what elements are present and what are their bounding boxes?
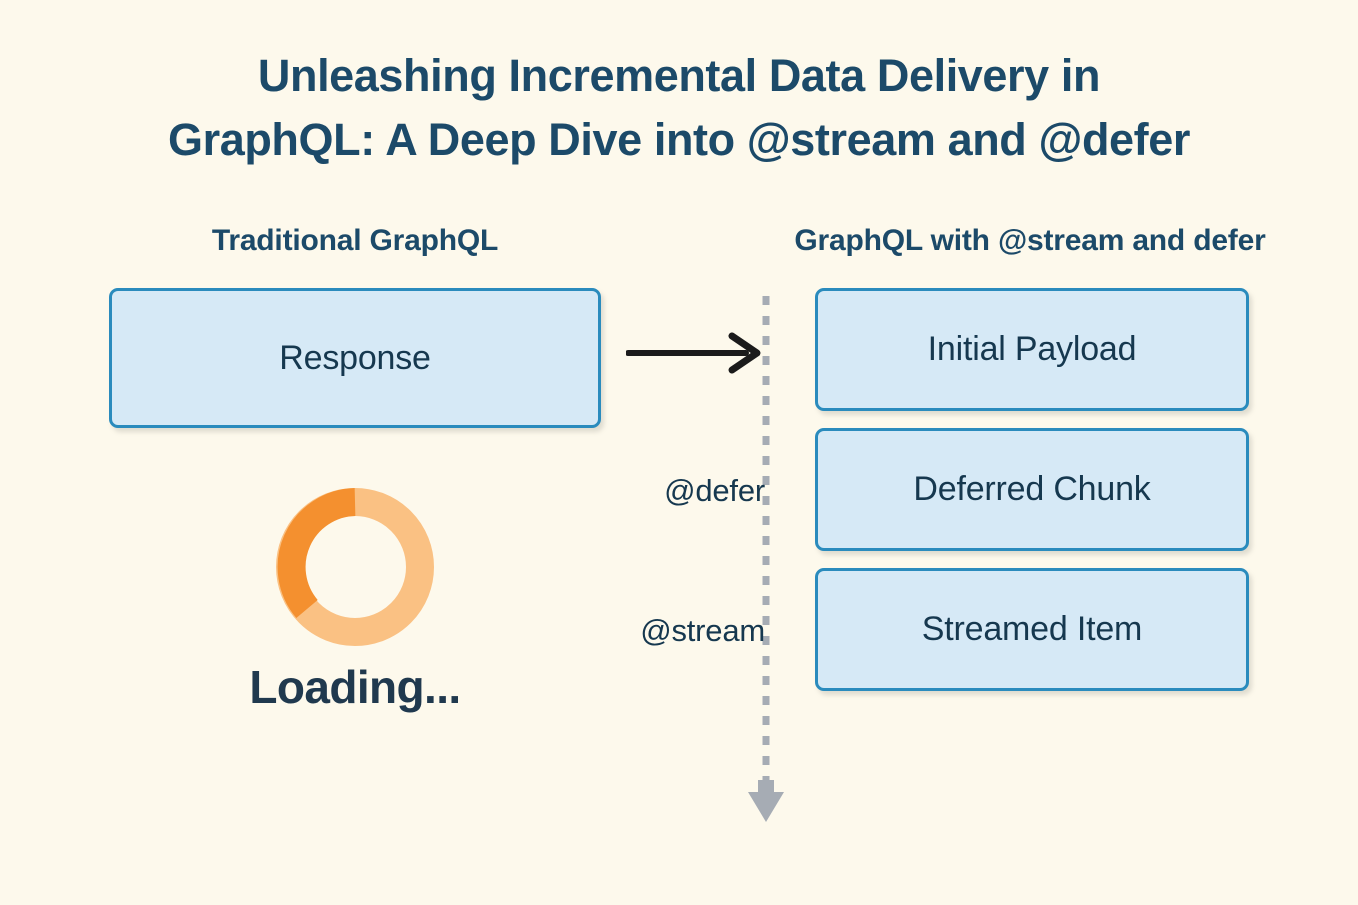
streamed-item-box-label: Streamed Item [922,610,1142,649]
deferred-chunk-box-label: Deferred Chunk [913,470,1150,509]
response-box-label: Response [279,339,431,378]
directive-label-stream: @stream [495,613,765,649]
loading-spinner-icon [272,484,438,650]
page-title: Unleashing Incremental Data Delivery in … [0,44,1358,172]
loading-label: Loading... [110,660,600,714]
directive-label-defer: @defer [495,473,765,509]
deferred-chunk-box: Deferred Chunk [815,428,1249,551]
streamed-item-box: Streamed Item [815,568,1249,691]
diagram-canvas: Unleashing Incremental Data Delivery in … [0,0,1358,905]
response-box: Response [109,288,601,428]
column-heading-traditional: Traditional GraphQL [110,222,600,260]
column-heading-stream-defer: GraphQL with @stream and defer [760,222,1300,260]
initial-payload-box: Initial Payload [815,288,1249,411]
dashed-timeline-icon [740,296,792,824]
initial-payload-box-label: Initial Payload [928,330,1137,369]
